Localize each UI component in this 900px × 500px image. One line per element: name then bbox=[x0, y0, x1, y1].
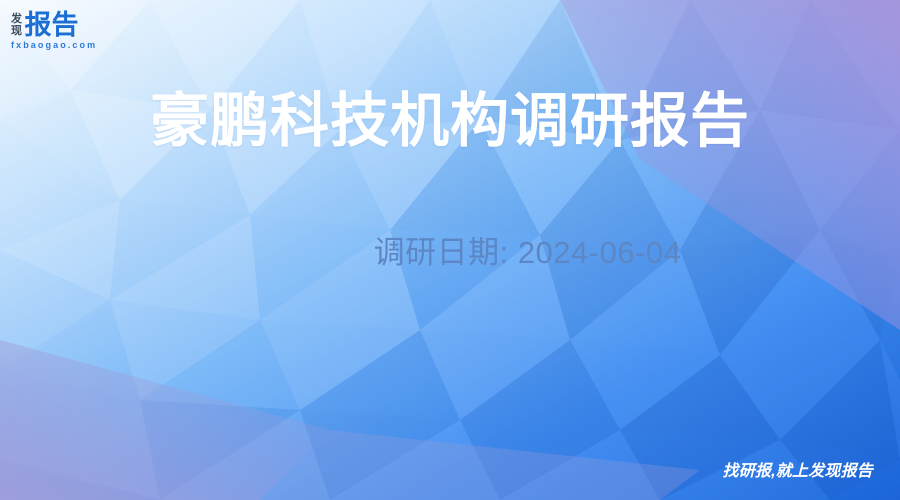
title-block: 豪鹏科技机构调研报告 bbox=[0, 86, 900, 156]
logo-url: fxbaogao.com bbox=[11, 40, 105, 50]
report-cover: 发 现 报告 fxbaogao.com 豪鹏科技机构调研报告 调研日期: 202… bbox=[0, 0, 900, 500]
survey-date: 调研日期: 2024-06-04 bbox=[155, 233, 900, 273]
page-title: 豪鹏科技机构调研报告 bbox=[0, 86, 900, 156]
footer-slogan: 找研报,就上发现报告 bbox=[723, 457, 873, 481]
logo-char-xian: 现 bbox=[11, 26, 22, 38]
fxbaogao-logo[interactable]: 发 现 报告 fxbaogao.com bbox=[11, 9, 105, 53]
logo-stacked-chars: 发 现 bbox=[11, 14, 22, 39]
logo-row: 发 现 报告 bbox=[11, 9, 105, 39]
logo-wordmark: 报告 bbox=[25, 11, 79, 39]
subtitle-block: 调研日期: 2024-06-04 bbox=[0, 233, 900, 273]
